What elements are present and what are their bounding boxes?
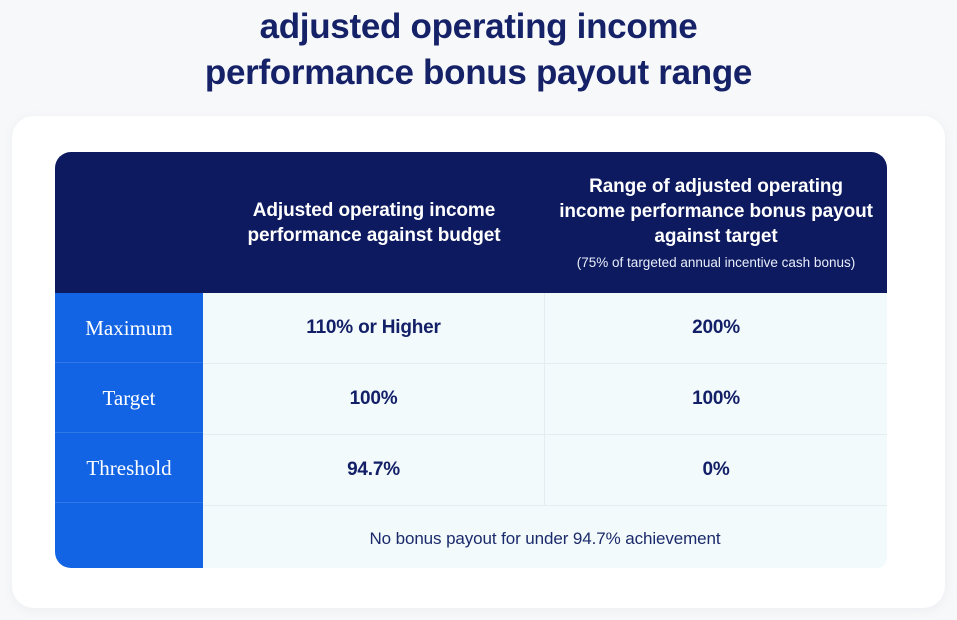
cell-text-payout-maximum: 200% — [692, 317, 740, 339]
table-header-performance-cell: Adjusted operating income performance ag… — [203, 152, 545, 293]
table-header-corner-cell — [55, 152, 203, 293]
table-body: Maximum Target Threshold 110 — [55, 293, 887, 568]
cell-text-performance-threshold: 94.7% — [347, 459, 400, 481]
cell-performance-target: 100% — [203, 364, 545, 434]
table-row: 110% or Higher 200% — [203, 293, 887, 364]
cell-payout-maximum: 200% — [545, 293, 887, 363]
label-text-target: Target — [103, 385, 156, 411]
cell-performance-maximum: 110% or Higher — [203, 293, 545, 363]
table-row: 100% 100% — [203, 364, 887, 435]
table-row-label-target: Target — [55, 363, 203, 433]
cell-text-payout-target: 100% — [692, 388, 740, 410]
cell-performance-threshold: 94.7% — [203, 435, 545, 505]
table-header-payout-sublabel: (75% of targeted annual incentive cash b… — [577, 253, 855, 272]
table-row-label-footer — [55, 503, 203, 568]
table-footer-note: No bonus payout for under 94.7% achievem… — [369, 529, 720, 549]
table-footer-row: No bonus payout for under 94.7% achievem… — [203, 506, 887, 568]
table-row-label-threshold: Threshold — [55, 433, 203, 503]
table-header-payout-label: Range of adjusted operating income perfo… — [559, 174, 873, 249]
table-row: 94.7% 0% — [203, 435, 887, 506]
label-text-threshold: Threshold — [86, 455, 171, 481]
bonus-payout-table: Adjusted operating income performance ag… — [55, 152, 887, 568]
table-header-payout-cell: Range of adjusted operating income perfo… — [545, 152, 887, 293]
label-text-maximum: Maximum — [85, 315, 173, 341]
table-row-label-maximum: Maximum — [55, 293, 203, 363]
cell-payout-target: 100% — [545, 364, 887, 434]
cell-text-payout-threshold: 0% — [702, 459, 729, 481]
page-root: adjusted operating income performance bo… — [0, 0, 957, 620]
page-title-line-1: adjusted operating income — [0, 4, 957, 50]
table-data-column: 110% or Higher 200% 100% 100% — [203, 293, 887, 568]
table-header-row: Adjusted operating income performance ag… — [55, 152, 887, 293]
cell-text-performance-maximum: 110% or Higher — [306, 317, 440, 339]
table-label-column: Maximum Target Threshold — [55, 293, 203, 568]
content-card: Adjusted operating income performance ag… — [12, 116, 945, 608]
cell-payout-threshold: 0% — [545, 435, 887, 505]
page-title: adjusted operating income performance bo… — [0, 4, 957, 96]
cell-text-performance-target: 100% — [350, 388, 398, 410]
table-header-performance-label: Adjusted operating income performance ag… — [217, 198, 531, 248]
page-title-line-2: performance bonus payout range — [0, 50, 957, 96]
